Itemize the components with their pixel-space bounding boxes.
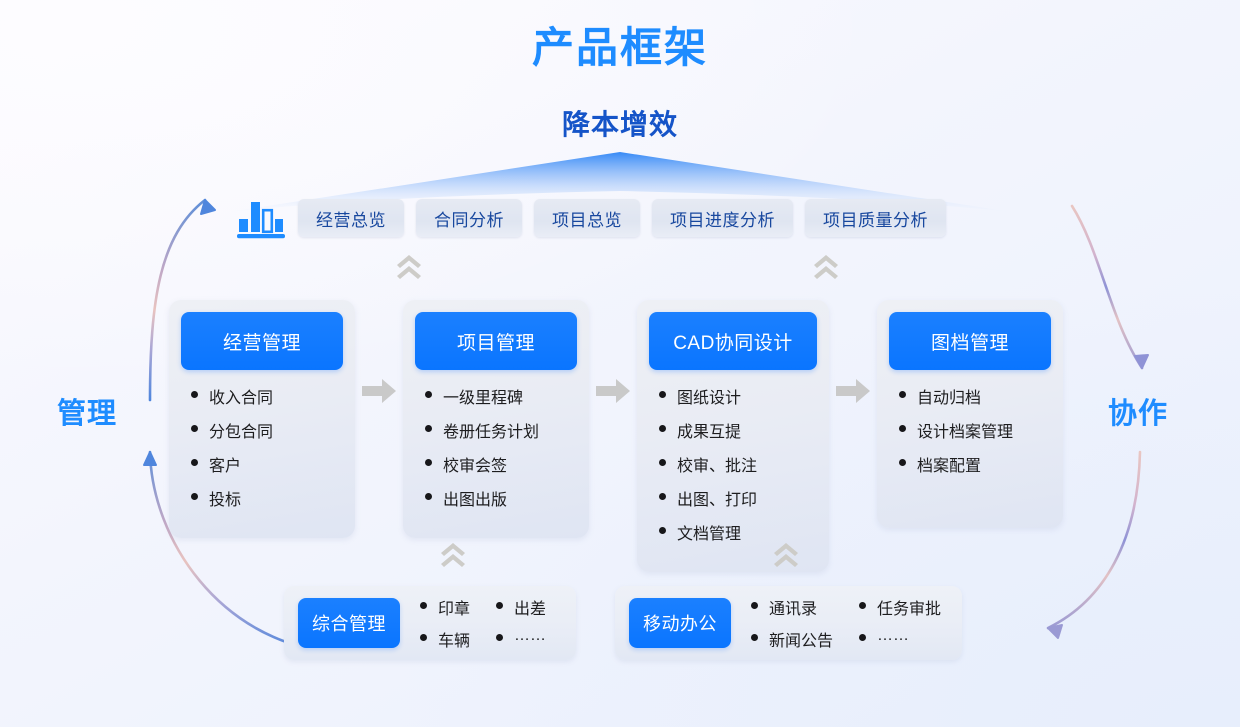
module-card-cad[interactable]: CAD协同设计 图纸设计 成果互提 校审、批注 出图、打印 文档管理 [637,300,829,572]
list-item: 印章 [420,595,470,619]
bottom-feature-list: 通讯录 任务审批 新闻公告 …… [751,595,941,651]
flow-arrow-3 [829,300,877,528]
list-item: 出图出版 [425,486,577,510]
list-item: 出图、打印 [659,486,817,510]
list-item: 校审会签 [425,452,577,476]
bottom-card-title: 综合管理 [298,598,400,648]
module-feature-list: 图纸设计 成果互提 校审、批注 出图、打印 文档管理 [649,384,817,544]
nav-chip-label: 项目质量分析 [823,206,928,231]
list-item: 自动归档 [899,384,1051,408]
module-card-business[interactable]: 经营管理 收入合同 分包合同 客户 投标 [169,300,355,538]
right-cycle-label: 协作 [1108,390,1168,432]
module-feature-list: 自动归档 设计档案管理 档案配置 [889,384,1051,476]
flow-arrow-2 [589,300,637,528]
flow-arrow-1 [355,300,403,528]
list-item: 一级里程碑 [425,384,577,408]
list-item: …… [859,627,941,651]
module-card-title: 经营管理 [181,312,343,370]
chevron-up-icon-bottom-right [771,540,801,570]
list-item: 出差 [496,595,546,619]
module-card-title: CAD协同设计 [649,312,817,370]
list-item: …… [496,627,546,651]
list-item: 设计档案管理 [899,418,1051,442]
nav-chip-2[interactable]: 项目总览 [534,199,640,237]
nav-chip-label: 项目进度分析 [670,206,775,231]
module-feature-list: 收入合同 分包合同 客户 投标 [181,384,343,510]
nav-chip-label: 经营总览 [316,206,386,231]
page-subtitle: 降本增效 [0,103,1240,143]
module-card-title: 图档管理 [889,312,1051,370]
module-card-title: 项目管理 [415,312,577,370]
bottom-card-title: 移动办公 [629,598,731,648]
module-card-project[interactable]: 项目管理 一级里程碑 卷册任务计划 校审会签 出图出版 [403,300,589,538]
list-item: 车辆 [420,627,470,651]
nav-chip-3[interactable]: 项目进度分析 [652,199,793,237]
list-item: 图纸设计 [659,384,817,408]
nav-chip-label: 合同分析 [434,206,504,231]
chevron-up-icon-left [394,252,424,282]
bottom-card-general-management[interactable]: 综合管理 印章 出差 车辆 …… [284,586,576,660]
chevron-up-icon-bottom-left [438,540,468,570]
page-title: 产品框架 [0,14,1240,75]
nav-chip-1[interactable]: 合同分析 [416,199,522,237]
nav-chip-0[interactable]: 经营总览 [298,199,404,237]
analytics-chip-row: 经营总览 合同分析 项目总览 项目进度分析 项目质量分析 [236,197,946,239]
chevron-up-icon-right [811,252,841,282]
module-feature-list: 一级里程碑 卷册任务计划 校审会签 出图出版 [415,384,577,510]
nav-chip-4[interactable]: 项目质量分析 [805,199,946,237]
list-item: 通讯录 [751,595,833,619]
list-item: 投标 [191,486,343,510]
module-card-archive[interactable]: 图档管理 自动归档 设计档案管理 档案配置 [877,300,1063,528]
list-item: 收入合同 [191,384,343,408]
left-cycle-label: 管理 [57,390,117,432]
list-item: 校审、批注 [659,452,817,476]
bottom-feature-list: 印章 出差 车辆 …… [420,595,546,651]
nav-chip-label: 项目总览 [552,206,622,231]
list-item: 成果互提 [659,418,817,442]
bar-chart-icon [236,197,286,239]
list-item: 分包合同 [191,418,343,442]
list-item: 卷册任务计划 [425,418,577,442]
list-item: 新闻公告 [751,627,833,651]
product-framework-diagram: 产品框架 降本增效 管理 协作 经营总览 合同分析 项目总览 项目进度分析 项目… [0,0,1240,727]
module-cards-row: 经营管理 收入合同 分包合同 客户 投标 项目管理 一级里程碑 卷册任务计划 校… [169,300,1063,572]
bottom-card-mobile-office[interactable]: 移动办公 通讯录 任务审批 新闻公告 …… [615,586,962,660]
list-item: 任务审批 [859,595,941,619]
list-item: 档案配置 [899,452,1051,476]
list-item: 客户 [191,452,343,476]
